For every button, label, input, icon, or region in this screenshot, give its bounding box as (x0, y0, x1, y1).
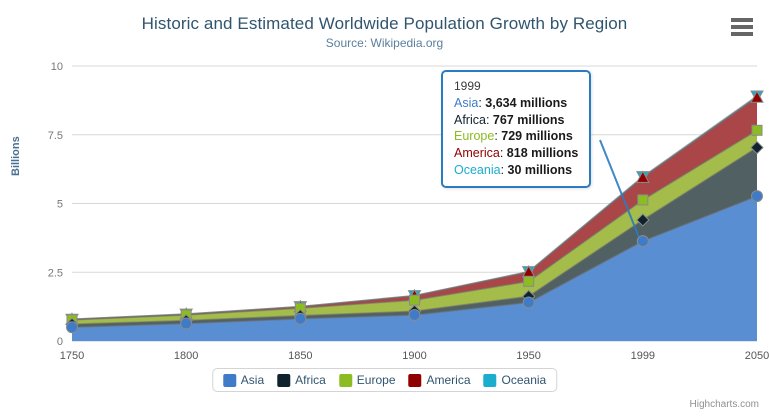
x-axis-tick-label: 1900 (402, 350, 426, 362)
x-axis-tick-label: 1750 (60, 350, 84, 362)
x-axis-tick-label: 2050 (745, 350, 769, 362)
y-axis-tick-label: 10 (51, 61, 63, 73)
tooltip-series-name: Europe (454, 129, 494, 143)
legend-swatch-icon (339, 374, 352, 387)
legend-item-europe[interactable]: Europe (339, 373, 396, 387)
tooltip-separator: : (486, 113, 493, 127)
credits-label[interactable]: Highcharts.com (690, 399, 759, 410)
data-point-asia-1800[interactable] (181, 318, 192, 329)
tooltip-separator: : (501, 163, 508, 177)
tooltip-series-name: America (454, 146, 500, 160)
legend-swatch-icon (277, 374, 290, 387)
data-point-europe-1999[interactable] (638, 195, 648, 205)
legend-swatch-icon (223, 374, 236, 387)
highcharts-chart: Historic and Estimated Worldwide Populat… (0, 0, 769, 416)
data-point-asia-1850[interactable] (295, 313, 306, 324)
x-axis-tick-label: 1850 (288, 350, 312, 362)
legend-item-asia[interactable]: Asia (223, 373, 264, 387)
data-point-asia-1750[interactable] (67, 322, 78, 333)
data-point-asia-1900[interactable] (409, 309, 420, 320)
chart-tooltip: 1999 Asia: 3,634 millionsAfrica: 767 mil… (441, 70, 591, 188)
y-axis-tick-label: 2.5 (48, 267, 63, 279)
tooltip-separator: : (500, 146, 507, 160)
tooltip-row: Asia: 3,634 millions (454, 95, 578, 112)
data-point-europe-1900[interactable] (410, 295, 420, 305)
legend-item-africa[interactable]: Africa (277, 373, 326, 387)
tooltip-series-name: Asia (454, 96, 478, 110)
x-axis-tick-label: 1800 (174, 350, 198, 362)
tooltip-series-value: 767 millions (493, 113, 565, 127)
y-axis-tick-label: 7.5 (48, 130, 63, 142)
data-point-asia-1999-highlighted[interactable] (637, 236, 648, 247)
data-point-europe-1950[interactable] (524, 276, 534, 286)
tooltip-series-value: 3,634 millions (485, 96, 567, 110)
chart-legend: AsiaAfricaEuropeAmericaOceania (212, 368, 557, 392)
x-axis-tick-label: 1950 (516, 350, 540, 362)
tooltip-series-value: 818 millions (507, 146, 579, 160)
data-point-asia-1950[interactable] (523, 297, 534, 308)
tooltip-row: America: 818 millions (454, 145, 578, 162)
legend-label: America (427, 373, 471, 387)
plot-area: 02.557.5101750180018501900195019992050 (0, 0, 769, 416)
legend-label: Oceania (502, 373, 547, 387)
y-axis-tick-label: 0 (57, 336, 63, 348)
tooltip-series-name: Africa (454, 113, 486, 127)
legend-label: Asia (241, 373, 264, 387)
legend-swatch-icon (409, 374, 422, 387)
y-axis-tick-label: 5 (57, 199, 63, 211)
tooltip-rows: Asia: 3,634 millionsAfrica: 767 millions… (454, 95, 578, 178)
tooltip-header: 1999 (454, 79, 578, 93)
data-point-europe-2050[interactable] (752, 125, 762, 135)
legend-item-oceania[interactable]: Oceania (484, 373, 547, 387)
legend-label: Europe (357, 373, 396, 387)
legend-item-america[interactable]: America (409, 373, 471, 387)
legend-label: Africa (295, 373, 326, 387)
tooltip-row: Africa: 767 millions (454, 112, 578, 129)
tooltip-series-value: 729 millions (501, 129, 573, 143)
tooltip-row: Oceania: 30 millions (454, 162, 578, 179)
legend-swatch-icon (484, 374, 497, 387)
tooltip-series-name: Oceania (454, 163, 501, 177)
x-axis-tick-label: 1999 (631, 350, 655, 362)
data-point-asia-2050[interactable] (752, 191, 763, 202)
tooltip-series-value: 30 millions (508, 163, 573, 177)
tooltip-row: Europe: 729 millions (454, 128, 578, 145)
